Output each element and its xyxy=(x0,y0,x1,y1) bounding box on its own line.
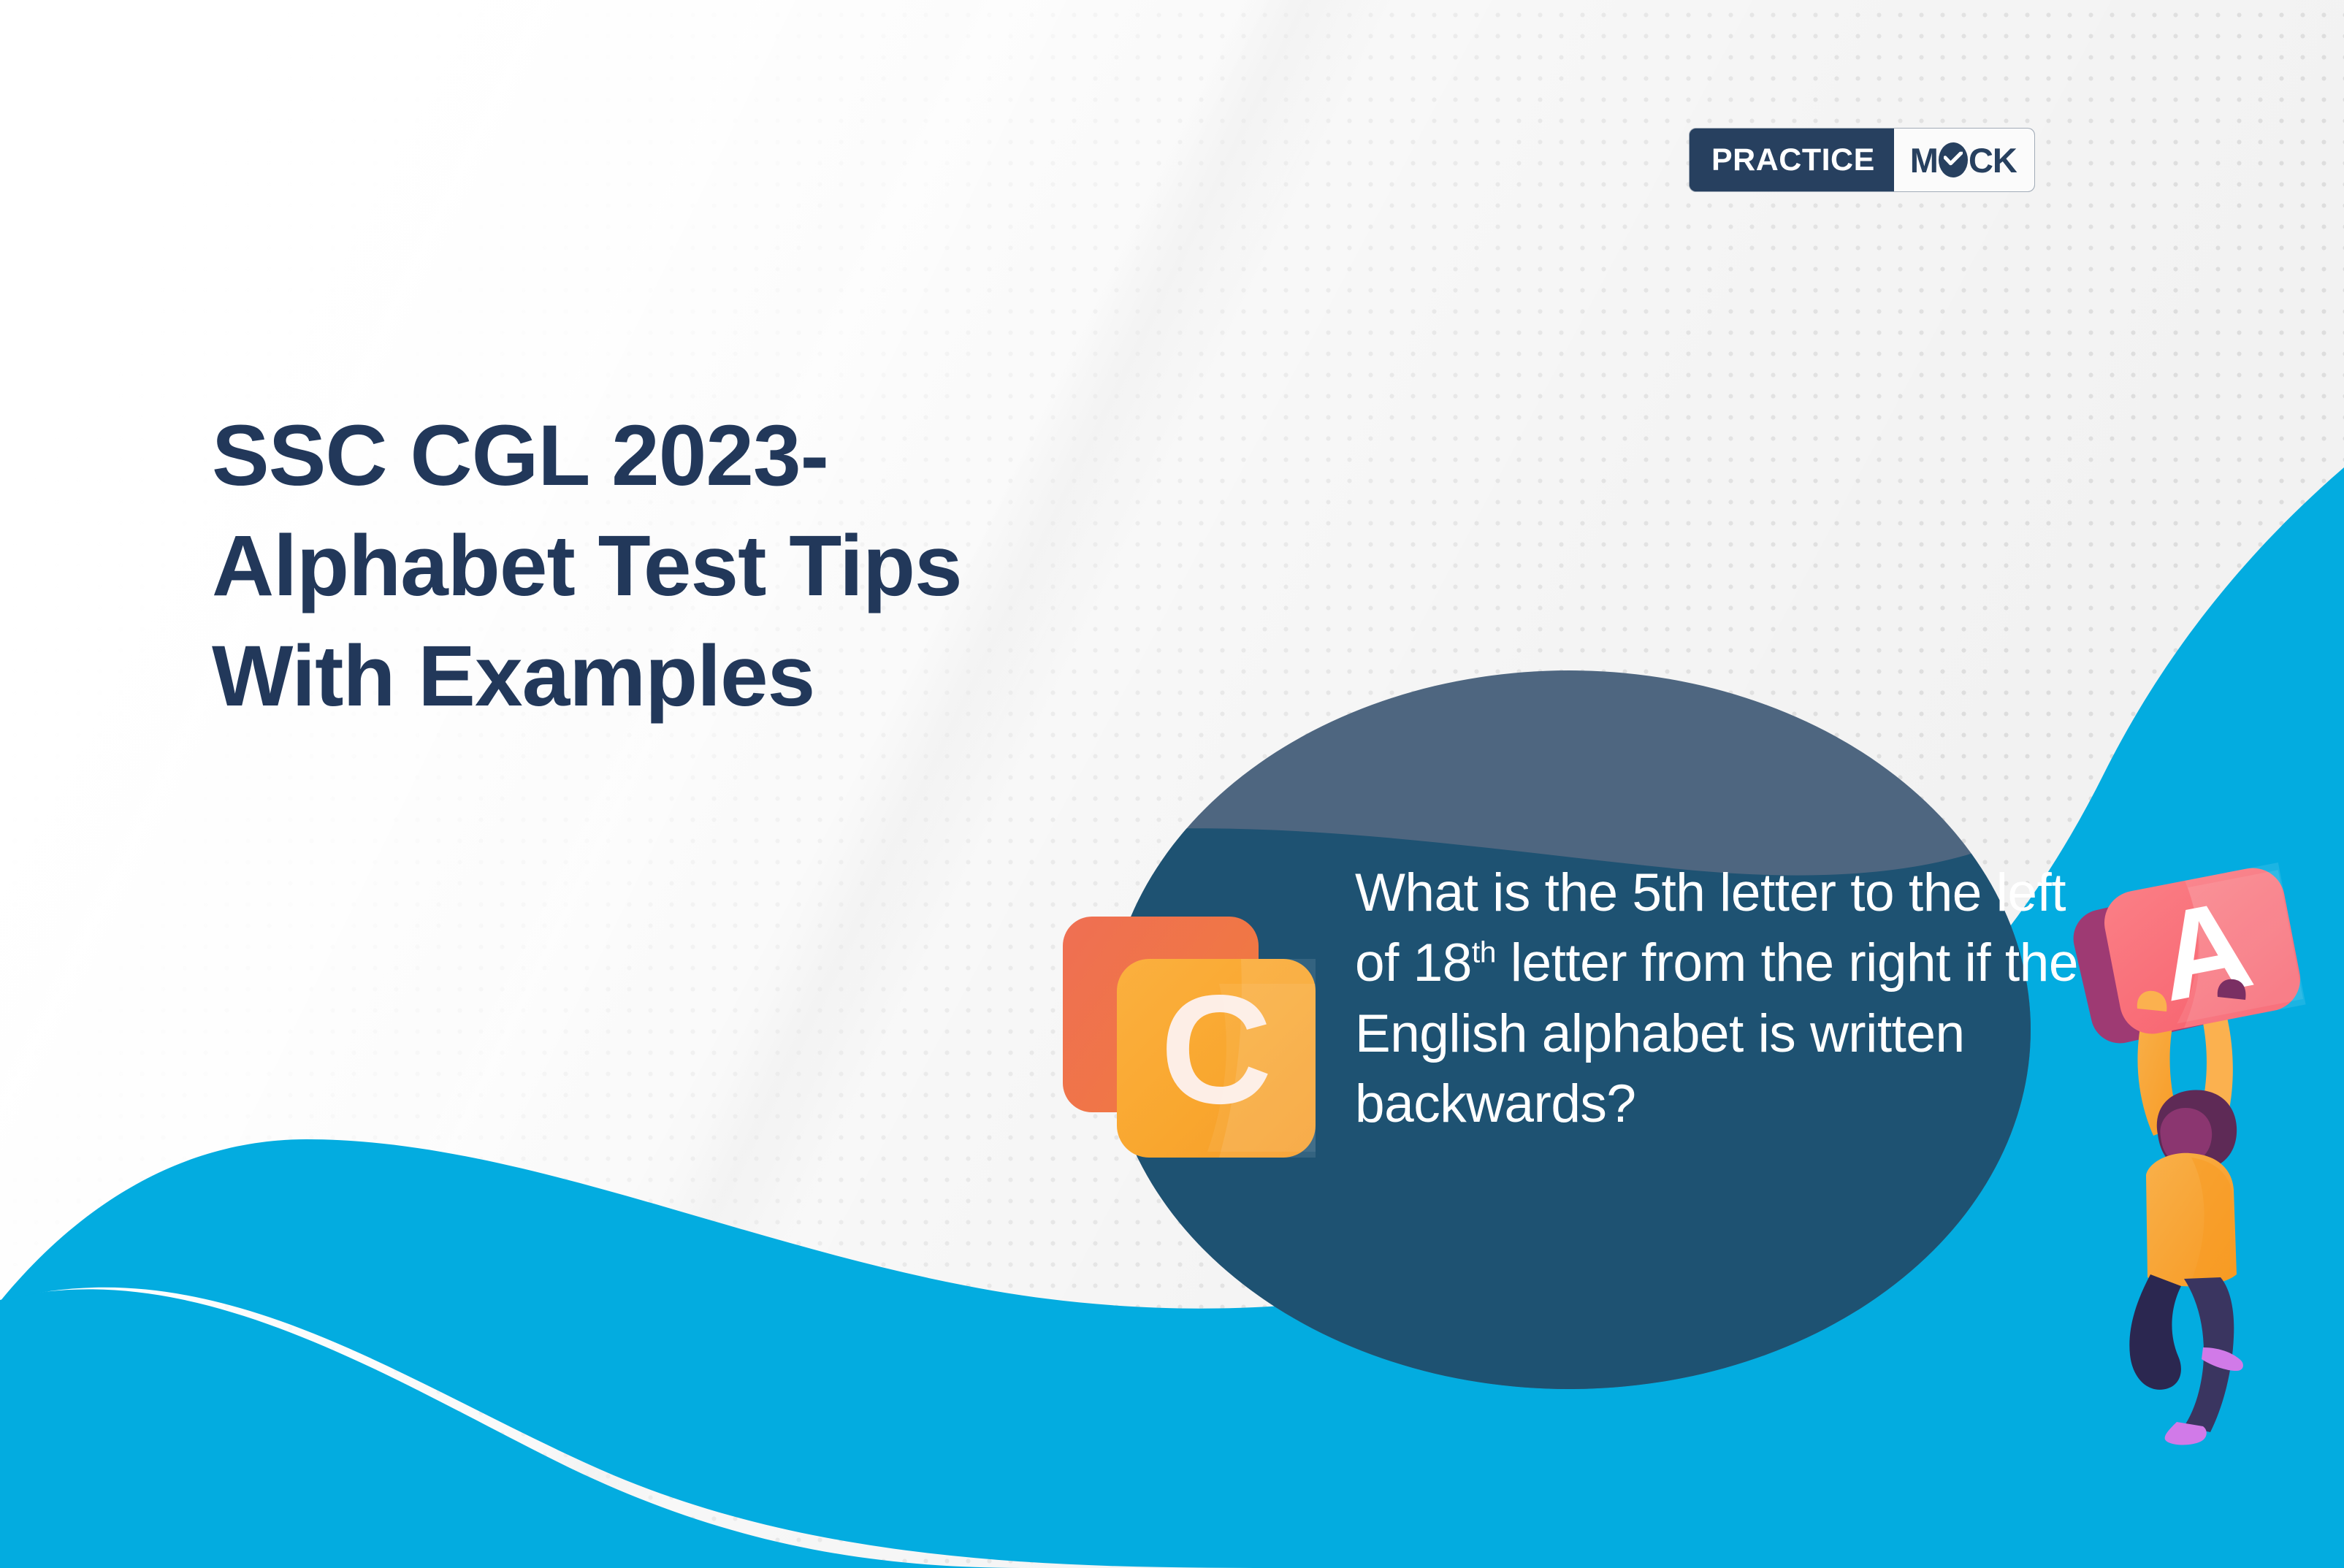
page-title: SSC CGL 2023- Alphabet Test Tips With Ex… xyxy=(212,401,1293,732)
logo-mock-block: M CK xyxy=(1894,129,2034,191)
check-oval-icon xyxy=(1939,142,1968,177)
check-icon xyxy=(1944,152,1963,167)
logo-mock-m: M xyxy=(1910,143,1938,177)
question-text: What is the 5th letter to the left of 18… xyxy=(1355,858,2078,1139)
title-line-3: With Examples xyxy=(212,622,1293,732)
logo-mock-ck: CK xyxy=(1969,143,2017,177)
logo-mock-text: M CK xyxy=(1910,142,2017,177)
title-line-1: SSC CGL 2023- xyxy=(212,401,1293,511)
logo-practice-text: PRACTICE xyxy=(1711,145,1875,176)
logo-practice-block: PRACTICE xyxy=(1690,129,1894,191)
poster-canvas: C xyxy=(0,0,2344,1568)
decorative-shapes: C xyxy=(0,0,2344,1568)
question-ordinal-suffix: th xyxy=(1472,936,1496,969)
practicemock-logo[interactable]: PRACTICE M CK xyxy=(1690,129,2034,191)
title-line-2: Alphabet Test Tips xyxy=(212,511,1293,622)
